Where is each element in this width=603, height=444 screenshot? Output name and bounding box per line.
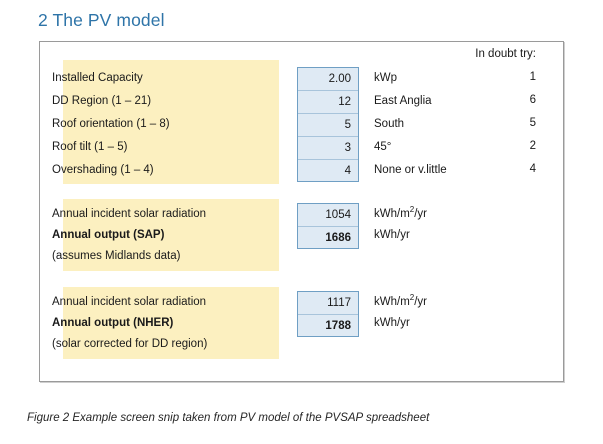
page-title: 2 The PV model <box>38 10 165 31</box>
in-doubt-overshading: 4 <box>456 163 536 175</box>
unit-nher-annual-output: kWh/yr <box>374 316 410 330</box>
cell-nher-solar-radiation[interactable]: 1117 <box>298 292 358 315</box>
cell-roof-orientation[interactable]: 5 <box>298 114 358 137</box>
cell-installed-capacity[interactable]: 2.00 <box>298 68 358 91</box>
unit-dd-region: East Anglia <box>374 94 432 108</box>
in-doubt-roof-orientation: 5 <box>456 117 536 129</box>
row-label-sap-solar-radiation: Annual incident solar radiation <box>52 207 206 221</box>
row-label-overshading: Overshading (1 – 4) <box>52 163 154 177</box>
unit-sap-annual-output: kWh/yr <box>374 228 410 242</box>
row-note-nher: (solar corrected for DD region) <box>52 337 207 351</box>
cell-overshading[interactable]: 4 <box>298 160 358 183</box>
row-label-sap-annual-output: Annual output (SAP) <box>52 228 164 242</box>
row-label-installed-capacity: Installed Capacity <box>52 71 143 85</box>
row-label-roof-orientation: Roof orientation (1 – 8) <box>52 117 170 131</box>
unit-overshading: None or v.little <box>374 163 447 177</box>
unit-sap-solar-radiation: kWh/m2/yr <box>374 207 427 221</box>
cell-nher-annual-output[interactable]: 1788 <box>298 315 358 338</box>
unit-nher-solar-radiation: kWh/m2/yr <box>374 295 427 309</box>
figure-caption: Figure 2 Example screen snip taken from … <box>27 412 429 424</box>
row-note-sap: (assumes Midlands data) <box>52 249 180 263</box>
cell-sap-annual-output[interactable]: 1686 <box>298 227 358 250</box>
row-label-nher-solar-radiation: Annual incident solar radiation <box>52 295 206 309</box>
nher-value-cells: 1117 1788 <box>297 291 359 337</box>
in-doubt-dd-region: 6 <box>456 94 536 106</box>
cell-sap-solar-radiation[interactable]: 1054 <box>298 204 358 227</box>
in-doubt-roof-tilt: 2 <box>456 140 536 152</box>
unit-installed-capacity: kWp <box>374 71 397 85</box>
row-label-roof-tilt: Roof tilt (1 – 5) <box>52 140 127 154</box>
cell-roof-tilt[interactable]: 3 <box>298 137 358 160</box>
row-label-nher-annual-output: Annual output (NHER) <box>52 316 173 330</box>
input-value-cells: 2.00 12 5 3 4 <box>297 67 359 182</box>
in-doubt-try-header: In doubt try: <box>456 48 536 60</box>
sap-value-cells: 1054 1686 <box>297 203 359 249</box>
unit-roof-orientation: South <box>374 117 404 131</box>
screenshot-frame: In doubt try: Installed Capacity DD Regi… <box>39 41 564 382</box>
unit-roof-tilt: 45° <box>374 140 391 154</box>
row-label-dd-region: DD Region (1 – 21) <box>52 94 151 108</box>
cell-dd-region[interactable]: 12 <box>298 91 358 114</box>
in-doubt-installed-capacity: 1 <box>456 71 536 83</box>
